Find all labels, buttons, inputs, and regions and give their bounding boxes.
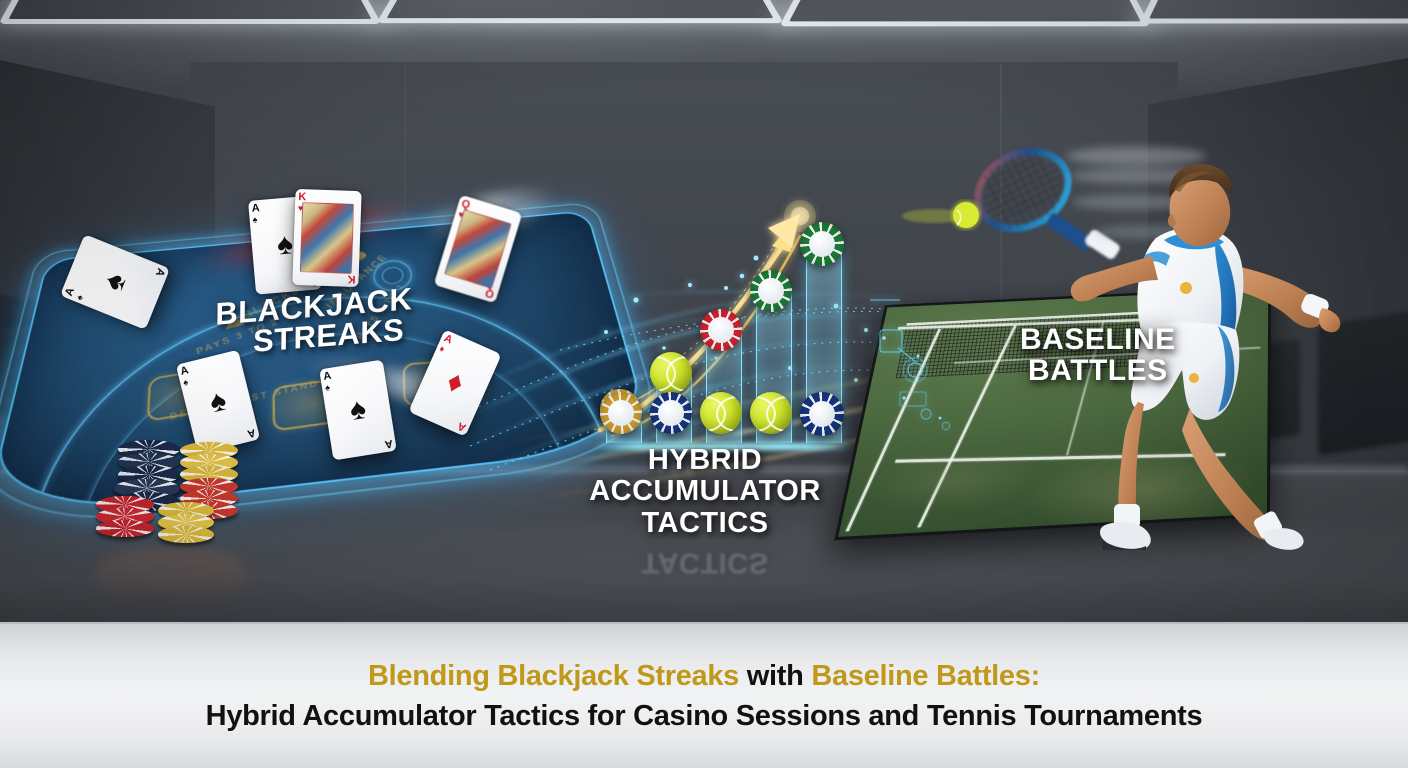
card-rank-bottom: A (456, 419, 468, 432)
card-suit-top: ♠ (182, 378, 189, 388)
hybrid-accumulator-tactics-label: HYBRID ACCUMULATOR TACTICS TACTICS (540, 445, 870, 539)
caption-gold-part-1: Blending Blackjack Streaks (368, 660, 739, 692)
chart-marker-green-chip (750, 270, 792, 312)
card-suit-top: ♠ (252, 215, 258, 224)
card-rank-top: A (251, 203, 260, 215)
baseline-battles-label: BASELINE BATTLES (1020, 325, 1176, 386)
chart-base-tennis-ball (750, 392, 792, 434)
card-rank-bottom: Q (485, 287, 496, 300)
card-rank-bottom: A (153, 266, 166, 277)
card-rank-bottom: A (384, 437, 394, 449)
center-label-line3: TACTICS (540, 508, 870, 539)
card-rank-top: A (323, 371, 333, 383)
card-suit-top: ♠ (75, 294, 85, 302)
card-center-suit: ♦ (421, 357, 490, 410)
card-center-suit: ♠ (89, 246, 142, 318)
ceiling-light-panel-1 (9, 0, 372, 19)
caption-line-1: Blending Blackjack Streaks with Baseline… (368, 660, 1040, 693)
card-court-face-art (444, 209, 512, 289)
center-label-reflection: TACTICS (540, 546, 870, 577)
caption-line-2: Hybrid Accumulator Tactics for Casino Se… (206, 700, 1203, 733)
card-rank-top: A (179, 365, 189, 378)
card-rank-bottom: A (246, 426, 256, 439)
card-rank-bottom: K (347, 273, 355, 284)
chart-base-gold-chip (600, 392, 642, 434)
ceiling-light-panel-3 (789, 0, 1140, 21)
center-label-line1: HYBRID (540, 445, 870, 476)
chart-marker-tennis-ball (650, 352, 692, 394)
casino-chip (96, 520, 154, 537)
promotional-banner: BLACKJACK PAYS 3 TO 2 INSURANCE PAYS 2 T… (0, 0, 1408, 768)
card-center-suit: ♠ (183, 380, 252, 425)
chip-stack-reflection (96, 548, 246, 604)
card-court-face-art (300, 202, 354, 274)
tennis-label-line2: BATTLES (1020, 356, 1176, 387)
center-label-line2: ACCUMULATOR (540, 476, 870, 507)
chart-marker-red-chip (700, 309, 742, 351)
chart-base-tennis-ball (700, 392, 742, 434)
tennis-label-line1: BASELINE (1020, 325, 1176, 356)
card-suit-top: ♠ (325, 383, 331, 393)
casino-chip (158, 526, 214, 543)
ceiling-light-panel-2 (387, 0, 774, 18)
caption-bar: Blending Blackjack Streaks with Baseline… (0, 622, 1408, 768)
card-center-suit: ♠ (324, 390, 392, 430)
ceiling-light-panel-4 (1149, 0, 1408, 18)
chart-base-navy-chip (800, 392, 844, 436)
caption-connector: with (739, 660, 811, 692)
card-suit-top: ♦ (438, 344, 446, 354)
playing-card-king-of-hearts: K ♥ K (292, 189, 361, 287)
chart-marker-green-chip (800, 222, 844, 266)
chart-base-navy-chip (650, 392, 692, 434)
caption-gold-part-2: Baseline Battles: (811, 660, 1040, 692)
